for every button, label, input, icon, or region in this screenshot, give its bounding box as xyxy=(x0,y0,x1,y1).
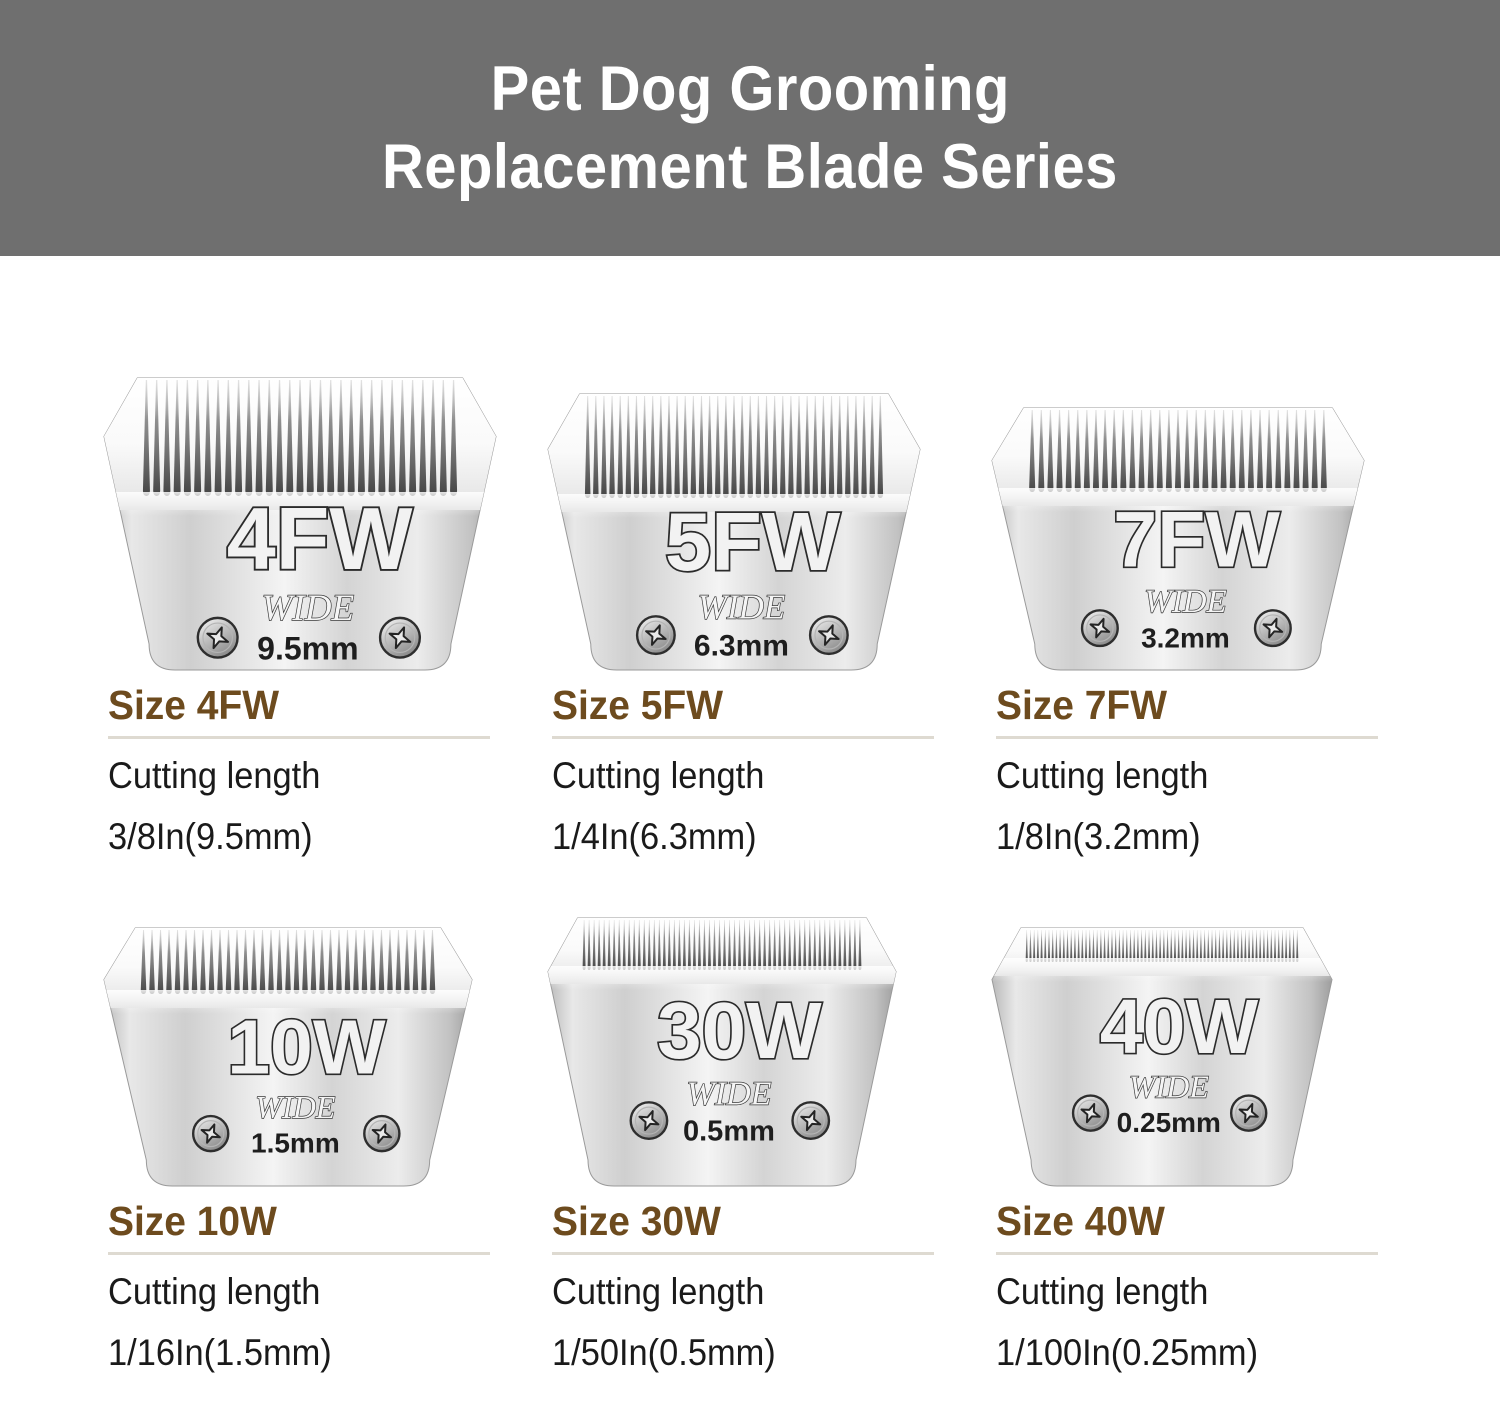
blade-image-30w: 30WWIDE0.5mm xyxy=(538,906,970,1196)
blade-image-40w: 40WWIDE0.25mm xyxy=(982,906,1414,1196)
clipper-blade-icon: 5FWWIDE6.3mm xyxy=(538,384,930,680)
header-banner: Pet Dog Grooming Replacement Blade Serie… xyxy=(0,0,1500,256)
blade-cutting-length-value: 1/100In(0.25mm) xyxy=(996,1328,1355,1377)
engraved-wide-label: WIDE xyxy=(255,1089,335,1125)
engraved-size-code: 5FW xyxy=(665,495,841,588)
blade-image-7fw: 7FWWIDE3.2mm xyxy=(982,350,1414,680)
engraved-mm-value: 9.5mm xyxy=(257,631,358,667)
blade-cutting-length-label: Cutting length xyxy=(552,751,911,800)
blade-cutting-length-value: 1/16In(1.5mm) xyxy=(108,1328,467,1377)
blade-image-5fw: 5FWWIDE6.3mm xyxy=(538,350,970,680)
clipper-blade-icon: 10WWIDE1.5mm xyxy=(94,918,482,1196)
blade-cutting-length-value: 1/8In(3.2mm) xyxy=(996,812,1355,861)
caption-divider xyxy=(552,1252,934,1255)
blade-image-4fw: 4FWWIDE9.5mm xyxy=(94,350,526,680)
blade-row-bottom: 10WWIDE1.5mm Size 10W Cutting length 1/1… xyxy=(0,906,1500,1408)
blade-screw-icon xyxy=(637,616,675,654)
engraved-mm-value: 0.5mm xyxy=(683,1115,775,1147)
engraved-mm-value: 6.3mm xyxy=(694,630,789,663)
clipper-blade-icon: 40WWIDE0.25mm xyxy=(982,918,1342,1196)
page-title-line-2: Replacement Blade Series xyxy=(382,128,1118,206)
blade-screw-icon xyxy=(810,616,848,654)
engraved-wide-label: WIDE xyxy=(262,588,354,629)
blade-screw-icon xyxy=(1255,610,1291,646)
blade-grid: 4FWWIDE9.5mm Size 4FW Cutting length 3/8… xyxy=(0,256,1500,1408)
engraved-size-code: 7FW xyxy=(1113,494,1280,583)
blade-cutting-length-label: Cutting length xyxy=(996,751,1355,800)
blade-card-7fw[interactable]: 7FWWIDE3.2mm Size 7FW Cutting length 1/8… xyxy=(982,350,1414,910)
caption-divider xyxy=(552,736,934,739)
engraved-mm-value: 1.5mm xyxy=(251,1128,340,1159)
blade-size-title: Size 30W xyxy=(552,1196,919,1246)
blade-caption-7fw: Size 7FW Cutting length 1/8In(3.2mm) xyxy=(982,680,1382,861)
engraved-size-code: 4FW xyxy=(227,489,413,588)
engraved-mm-value: 3.2mm xyxy=(1141,623,1230,654)
clipper-blade-icon: 30WWIDE0.5mm xyxy=(538,908,906,1196)
blade-size-title: Size 40W xyxy=(996,1196,1363,1246)
engraved-size-code: 40W xyxy=(1100,984,1259,1070)
engraved-mm-value: 0.25mm xyxy=(1117,1107,1221,1138)
blade-screw-icon xyxy=(793,1102,829,1138)
blade-caption-5fw: Size 5FW Cutting length 1/4In(6.3mm) xyxy=(538,680,938,861)
clipper-blade-icon: 4FWWIDE9.5mm xyxy=(94,368,506,680)
blade-cutting-length-value: 1/50In(0.5mm) xyxy=(552,1328,911,1377)
blade-cutting-length-label: Cutting length xyxy=(552,1267,911,1316)
engraved-size-code: 30W xyxy=(657,986,822,1075)
blade-screw-icon xyxy=(1231,1096,1266,1131)
blade-comb-plate xyxy=(102,926,474,1014)
blade-screw-icon xyxy=(1073,1096,1108,1131)
blade-screw-icon xyxy=(198,618,238,658)
blade-screw-icon xyxy=(1082,610,1118,646)
engraved-size-code: 10W xyxy=(227,1004,386,1090)
blade-screw-icon xyxy=(631,1102,667,1138)
blade-card-4fw[interactable]: 4FWWIDE9.5mm Size 4FW Cutting length 3/8… xyxy=(94,350,526,910)
blade-screw-icon xyxy=(364,1116,399,1151)
blade-caption-40w: Size 40W Cutting length 1/100In(0.25mm) xyxy=(982,1196,1382,1377)
blade-cutting-length-label: Cutting length xyxy=(108,1267,467,1316)
blade-size-title: Size 5FW xyxy=(552,680,919,730)
engraved-wide-label: WIDE xyxy=(686,1075,771,1112)
blade-card-30w[interactable]: 30WWIDE0.5mm Size 30W Cutting length 1/5… xyxy=(538,906,970,1408)
blade-row-top: 4FWWIDE9.5mm Size 4FW Cutting length 3/8… xyxy=(0,350,1500,910)
engraved-wide-label: WIDE xyxy=(1129,1069,1209,1105)
blade-card-40w[interactable]: 40WWIDE0.25mm Size 40W Cutting length 1/… xyxy=(982,906,1414,1408)
blade-size-title: Size 10W xyxy=(108,1196,475,1246)
blade-size-title: Size 4FW xyxy=(108,680,475,730)
blade-card-10w[interactable]: 10WWIDE1.5mm Size 10W Cutting length 1/1… xyxy=(94,906,526,1408)
caption-divider xyxy=(108,1252,490,1255)
caption-divider xyxy=(996,1252,1378,1255)
blade-caption-4fw: Size 4FW Cutting length 3/8In(9.5mm) xyxy=(94,680,494,861)
clipper-blade-icon: 7FWWIDE3.2mm xyxy=(982,398,1374,680)
engraved-wide-label: WIDE xyxy=(1144,584,1226,620)
blade-cutting-length-label: Cutting length xyxy=(996,1267,1355,1316)
page-title-line-1: Pet Dog Grooming xyxy=(490,50,1009,128)
caption-divider xyxy=(108,736,490,739)
blade-cutting-length-label: Cutting length xyxy=(108,751,467,800)
blade-screw-icon xyxy=(380,618,420,658)
blade-comb-plate xyxy=(990,926,1334,982)
blade-caption-30w: Size 30W Cutting length 1/50In(0.5mm) xyxy=(538,1196,938,1377)
blade-size-title: Size 7FW xyxy=(996,680,1363,730)
blade-image-10w: 10WWIDE1.5mm xyxy=(94,906,526,1196)
blade-cutting-length-value: 3/8In(9.5mm) xyxy=(108,812,467,861)
blade-comb-plate xyxy=(546,916,898,990)
engraved-wide-label: WIDE xyxy=(698,587,785,626)
blade-caption-10w: Size 10W Cutting length 1/16In(1.5mm) xyxy=(94,1196,494,1377)
blade-cutting-length-value: 1/4In(6.3mm) xyxy=(552,812,911,861)
caption-divider xyxy=(996,736,1378,739)
blade-card-5fw[interactable]: 5FWWIDE6.3mm Size 5FW Cutting length 1/4… xyxy=(538,350,970,910)
blade-screw-icon xyxy=(193,1116,228,1151)
